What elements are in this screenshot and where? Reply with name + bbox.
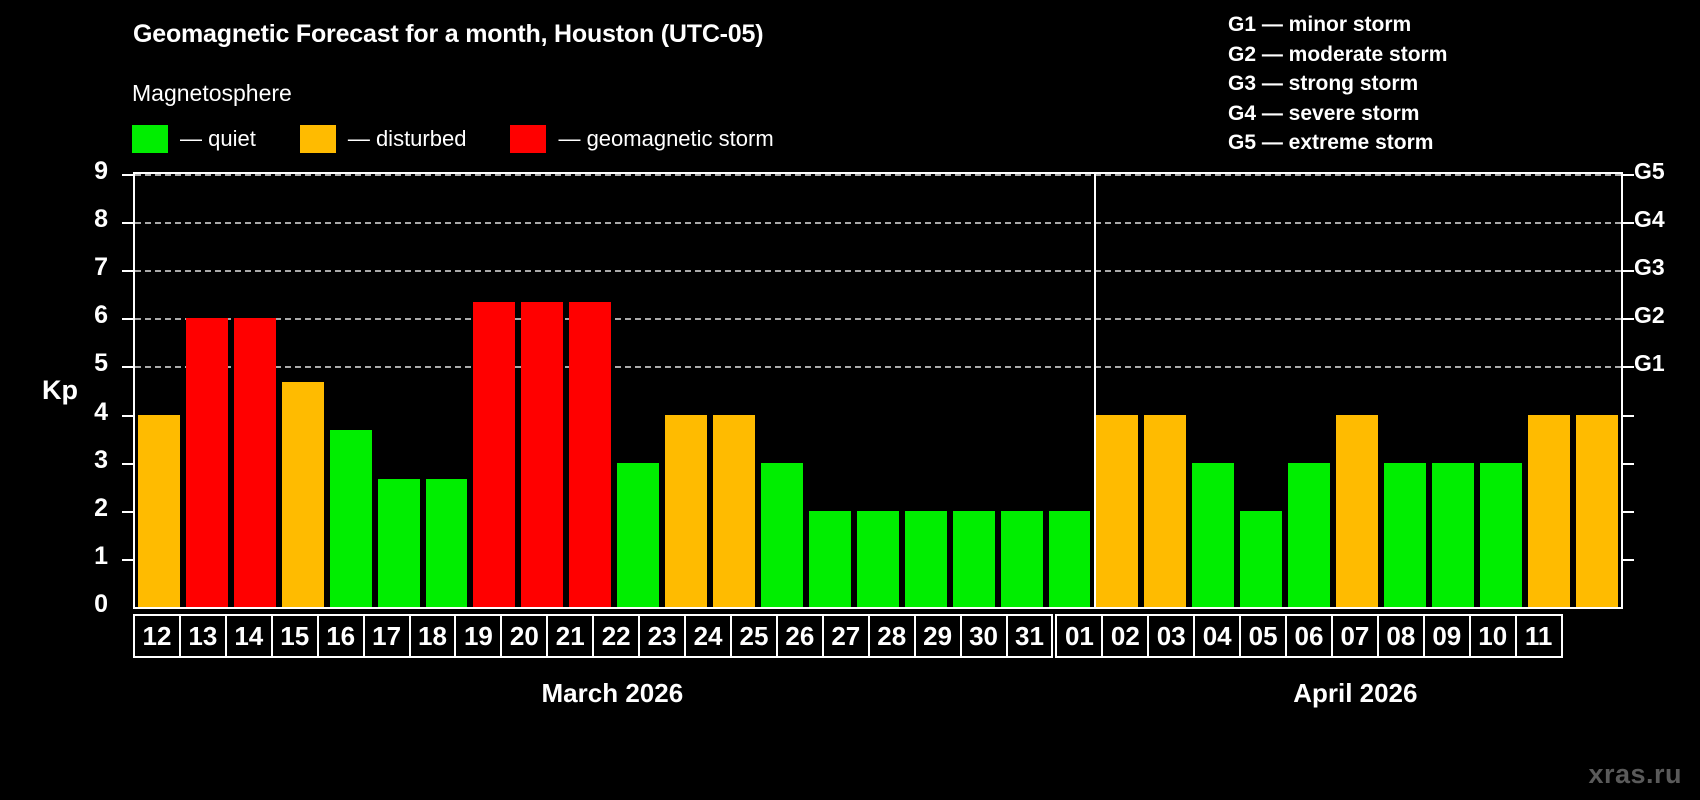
bar-slot[interactable] <box>998 174 1046 607</box>
y-axis-tick-label: 0 <box>68 590 108 619</box>
date-cell[interactable]: 06 <box>1285 614 1333 658</box>
date-cell[interactable]: 20 <box>500 614 548 658</box>
g-axis-tick-mark <box>1623 270 1634 272</box>
bar-slot[interactable] <box>1141 174 1189 607</box>
bar-slot[interactable] <box>1046 174 1094 607</box>
bar[interactable] <box>1001 511 1043 607</box>
bar[interactable] <box>234 318 276 607</box>
bar[interactable] <box>1336 415 1378 607</box>
g-scale-legend-row: G3 — strong storm <box>1228 69 1447 99</box>
y-axis-tick-label: 3 <box>68 446 108 475</box>
bar-slot[interactable] <box>470 174 518 607</box>
legend-item-label: — geomagnetic storm <box>558 126 773 152</box>
y-axis-tick-mark <box>122 415 133 417</box>
bar-slot[interactable] <box>375 174 423 607</box>
date-cell[interactable]: 29 <box>914 614 962 658</box>
bar-slot[interactable] <box>1333 174 1381 607</box>
date-cell[interactable]: 30 <box>960 614 1008 658</box>
bar[interactable] <box>1288 463 1330 607</box>
page-title: Geomagnetic Forecast for a month, Housto… <box>133 20 763 49</box>
g-axis-tick-mark <box>1623 174 1634 176</box>
month-label: March 2026 <box>402 678 822 709</box>
date-cell[interactable]: 26 <box>776 614 824 658</box>
date-cell[interactable]: 17 <box>363 614 411 658</box>
bar[interactable] <box>330 430 372 607</box>
g-scale-legend-row: G2 — moderate storm <box>1228 40 1447 70</box>
g-axis-tick-mark <box>1623 222 1634 224</box>
legend-item-label: — disturbed <box>348 126 467 152</box>
g-axis-tick-label: G2 <box>1634 302 1665 329</box>
y-axis-tick-mark <box>122 222 133 224</box>
bar[interactable] <box>617 463 659 607</box>
date-cell[interactable]: 03 <box>1147 614 1195 658</box>
date-cell[interactable]: 23 <box>638 614 686 658</box>
month-label: April 2026 <box>1195 678 1515 709</box>
bar[interactable] <box>1432 463 1474 607</box>
g-scale-legend-row: G1 — minor storm <box>1228 10 1447 40</box>
bar-slot[interactable] <box>1381 174 1429 607</box>
bar-slot[interactable] <box>1429 174 1477 607</box>
y-axis-tick-mark <box>122 174 133 176</box>
date-cell[interactable]: 15 <box>271 614 319 658</box>
bar-slot[interactable] <box>423 174 471 607</box>
green-swatch <box>132 125 168 153</box>
bar-slot[interactable] <box>950 174 998 607</box>
bar[interactable] <box>809 511 851 607</box>
y-axis-tick-mark <box>122 511 133 513</box>
y-axis-tick-label: 7 <box>68 253 108 282</box>
bar-slot[interactable] <box>662 174 710 607</box>
bar-series <box>135 174 1621 607</box>
bar[interactable] <box>378 479 420 607</box>
date-cell[interactable]: 08 <box>1377 614 1425 658</box>
date-cell[interactable]: 25 <box>730 614 778 658</box>
bar-slot[interactable] <box>1573 174 1621 607</box>
bar[interactable] <box>1192 463 1234 607</box>
date-cell[interactable]: 19 <box>454 614 502 658</box>
g-axis-tick-mark <box>1623 463 1634 465</box>
date-cell[interactable]: 28 <box>868 614 916 658</box>
bar-slot[interactable] <box>231 174 279 607</box>
y-axis-tick-mark <box>122 270 133 272</box>
bar[interactable] <box>1528 415 1570 607</box>
bar[interactable] <box>857 511 899 607</box>
bar-slot[interactable] <box>327 174 375 607</box>
g-axis-tick-label: G3 <box>1634 254 1665 281</box>
g-scale-legend-row: G4 — severe storm <box>1228 99 1447 129</box>
bar[interactable] <box>665 415 707 607</box>
g-axis-tick-mark <box>1623 318 1634 320</box>
date-cell[interactable]: 31 <box>1006 614 1054 658</box>
g-axis-tick-mark <box>1623 511 1634 513</box>
bar[interactable] <box>1049 511 1091 607</box>
date-cell[interactable]: 24 <box>684 614 732 658</box>
date-cell[interactable]: 16 <box>317 614 365 658</box>
y-axis-tick-label: 9 <box>68 157 108 186</box>
bar[interactable] <box>138 415 180 607</box>
legend-item: — geomagnetic storm <box>510 125 817 153</box>
bar[interactable] <box>761 463 803 607</box>
bar[interactable] <box>1240 511 1282 607</box>
bar-slot[interactable] <box>183 174 231 607</box>
g-axis-tick-mark <box>1623 559 1634 561</box>
legend-item: — disturbed <box>300 125 511 153</box>
y-axis-tick-label: 2 <box>68 494 108 523</box>
chart-page: Geomagnetic Forecast for a month, Housto… <box>0 0 1700 800</box>
bar[interactable] <box>953 511 995 607</box>
legend-item-label: — quiet <box>180 126 256 152</box>
bar-slot[interactable] <box>614 174 662 607</box>
bar[interactable] <box>426 479 468 607</box>
date-cell[interactable]: 14 <box>225 614 273 658</box>
date-cell[interactable]: 10 <box>1469 614 1517 658</box>
bar[interactable] <box>1096 415 1138 607</box>
bar[interactable] <box>1576 415 1618 607</box>
bar[interactable] <box>569 302 611 607</box>
bar-slot[interactable] <box>806 174 854 607</box>
bar[interactable] <box>1384 463 1426 607</box>
bar[interactable] <box>473 302 515 607</box>
y-axis-tick-mark <box>122 559 133 561</box>
date-cell[interactable]: 07 <box>1331 614 1379 658</box>
g-scale-legend: G1 — minor stormG2 — moderate stormG3 — … <box>1228 10 1447 158</box>
y-axis-tick-label: 6 <box>68 301 108 330</box>
date-cell[interactable]: 18 <box>409 614 457 658</box>
g-axis-tick-mark <box>1623 366 1634 368</box>
date-cell[interactable]: 02 <box>1101 614 1149 658</box>
color-legend: — quiet— disturbed— geomagnetic storm <box>132 125 818 153</box>
g-axis-tick-label: G4 <box>1634 206 1665 233</box>
date-cell[interactable]: 11 <box>1515 614 1563 658</box>
bar[interactable] <box>282 382 324 607</box>
bar[interactable] <box>1480 463 1522 607</box>
date-cell[interactable]: 13 <box>179 614 227 658</box>
orange-swatch <box>300 125 336 153</box>
date-cell[interactable]: 01 <box>1055 614 1103 658</box>
bar-slot[interactable] <box>566 174 614 607</box>
bar-slot[interactable] <box>518 174 566 607</box>
bar-slot[interactable] <box>902 174 950 607</box>
bar-slot[interactable] <box>1237 174 1285 607</box>
bar-slot[interactable] <box>854 174 902 607</box>
bar-slot[interactable] <box>758 174 806 607</box>
bar[interactable] <box>713 415 755 607</box>
y-axis-tick-label: 8 <box>68 205 108 234</box>
y-axis-tick-label: 1 <box>68 542 108 571</box>
y-axis-tick-mark <box>122 318 133 320</box>
y-axis-tick-mark <box>122 463 133 465</box>
bar-slot[interactable] <box>710 174 758 607</box>
g-axis-tick-label: G5 <box>1634 158 1665 185</box>
date-cell[interactable]: 04 <box>1193 614 1241 658</box>
bar-slot[interactable] <box>1477 174 1525 607</box>
date-cell[interactable]: 21 <box>546 614 594 658</box>
date-cell[interactable]: 05 <box>1239 614 1287 658</box>
date-cell[interactable]: 22 <box>592 614 640 658</box>
y-axis-tick-label: 4 <box>68 398 108 427</box>
bar-slot[interactable] <box>1525 174 1573 607</box>
bar[interactable] <box>186 318 228 607</box>
bar[interactable] <box>521 302 563 607</box>
bar-slot[interactable] <box>1189 174 1237 607</box>
legend-item: — quiet <box>132 125 300 153</box>
watermark: xras.ru <box>1588 759 1682 790</box>
y-axis-tick-mark <box>122 366 133 368</box>
bar[interactable] <box>905 511 947 607</box>
g-axis-tick-label: G1 <box>1634 350 1665 377</box>
date-cell[interactable]: 09 <box>1423 614 1471 658</box>
date-axis: 1213141516171819202122232425262728293031… <box>133 614 1623 658</box>
bar-slot[interactable] <box>1285 174 1333 607</box>
red-swatch <box>510 125 546 153</box>
g-scale-legend-row: G5 — extreme storm <box>1228 128 1447 158</box>
bar-slot[interactable] <box>1093 174 1141 607</box>
g-axis-tick-mark <box>1623 415 1634 417</box>
bar[interactable] <box>1144 415 1186 607</box>
magnetosphere-heading: Magnetosphere <box>132 80 292 107</box>
bar-slot[interactable] <box>135 174 183 607</box>
date-cell[interactable]: 27 <box>822 614 870 658</box>
y-axis-tick-label: 5 <box>68 349 108 378</box>
date-cell[interactable]: 12 <box>133 614 181 658</box>
bar-slot[interactable] <box>279 174 327 607</box>
